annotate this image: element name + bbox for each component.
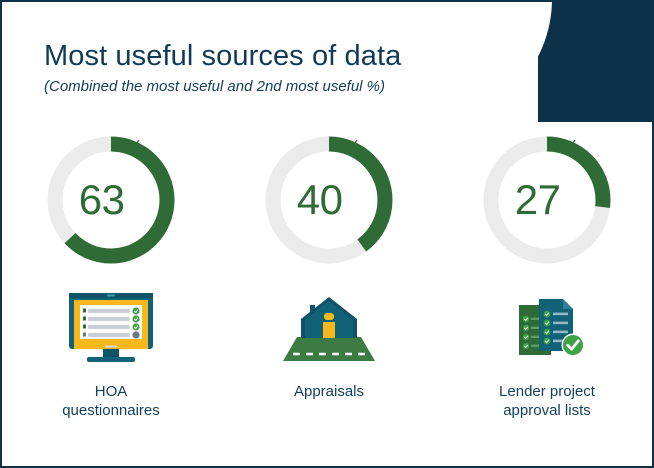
stat-columns: 63 %: [2, 130, 654, 420]
page-subtitle: (Combined the most useful and 2nd most u…: [44, 78, 564, 96]
percent-symbol: %: [125, 138, 143, 158]
icon-documents-check-wrap: [497, 288, 597, 370]
donut-label: 27 %: [477, 130, 617, 270]
infographic-card: Most useful sources of data (Combined th…: [0, 0, 654, 468]
house-lot-icon: [279, 291, 379, 367]
percent-symbol: %: [343, 138, 361, 158]
donut-value: 40: [297, 179, 343, 221]
caption-hoa-questionnaires: HOA questionnaires: [62, 382, 160, 420]
stat-column-appraisals: 40 % Appraisals: [220, 130, 438, 420]
donut-chart-hoa-questionnaires: 63 %: [41, 130, 181, 270]
page-title: Most useful sources of data: [44, 40, 564, 72]
documents-check-icon: [497, 291, 597, 367]
donut-value: 27: [515, 179, 561, 221]
icon-monitor-checklist-wrap: [61, 288, 161, 370]
caption-lender-project-approval-lists: Lender project approval lists: [499, 382, 595, 420]
donut-value: 63: [79, 179, 125, 221]
percent-symbol: %: [561, 138, 579, 158]
donut-chart-lender-project-approval-lists: 27 %: [477, 130, 617, 270]
donut-chart-appraisals: 40 %: [259, 130, 399, 270]
stat-column-hoa-questionnaires: 63 %: [2, 130, 220, 420]
donut-label: 63 %: [41, 130, 181, 270]
caption-appraisals: Appraisals: [294, 382, 364, 401]
header: Most useful sources of data (Combined th…: [44, 40, 564, 96]
stat-column-lender-project-approval-lists: 27 %: [438, 130, 654, 420]
monitor-checklist-icon: [61, 291, 161, 367]
donut-label: 40 %: [259, 130, 399, 270]
icon-house-lot-wrap: [279, 288, 379, 370]
